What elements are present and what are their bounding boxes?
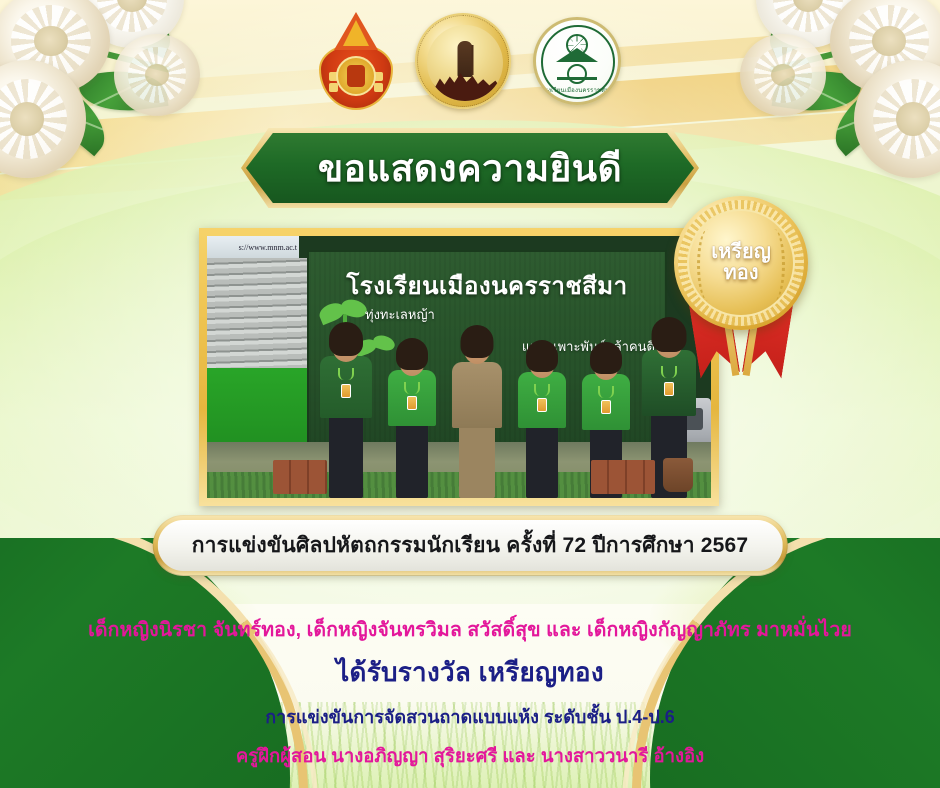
person-hair [461,325,494,358]
laurel-left-icon [697,229,719,301]
person-hair [329,322,363,356]
person-id-badge [407,396,417,410]
moe-body [319,44,393,110]
person-legs [526,424,558,498]
moe-ornament [329,83,338,92]
medal-inner-face [427,25,503,101]
backdrop-school-name: โรงเรียนเมืองนครราชสีมา [309,266,665,305]
person-lanyard [534,384,550,396]
person-id-badge [537,398,547,412]
photo-url-banner: s://www.mnm.ac.t [207,236,299,258]
photo-ceramic-pot [663,458,693,492]
award-result-line: ได้รับรางวัล เหรียญทอง [0,652,940,693]
headline-text: ขอแสดงความยินดี [318,139,622,198]
gold-medal-badge: เหรียญ ทอง [668,196,814,378]
person-lanyard [598,386,614,398]
pavilion-icon [557,54,597,80]
laurel-right-icon [763,229,785,301]
logo-row: โรงเรียนเมืองนครราชสีมา [0,12,940,110]
event-name-line: การแข่งขันการจัดสวนถาดแบบแห้ง ระดับชั้น … [0,702,940,731]
ministry-of-education-icon [319,12,393,110]
teachers-line: ครูฝึกผู้สอน นางอภิญญา สุริยะศรี และ นาง… [0,742,940,771]
headline-banner: ขอแสดงความยินดี [246,133,694,203]
photo-brick-planter-left [273,460,327,494]
school-seal-icon: โรงเรียนเมืองนครราชสีมา [533,17,621,105]
moe-center-ring [336,56,376,96]
caption-pill: การแข่งขันศิลปหัตถกรรมนักเรียน ครั้งที่ … [154,516,787,575]
medal-label-line2: ทอง [724,263,759,284]
award-details: เด็กหญิงนิรชา จันทร์ทอง, เด็กหญิงจันทรวิ… [0,614,940,771]
caption-text: การแข่งขันศิลปหัตถกรรมนักเรียน ครั้งที่ … [192,534,749,557]
person-hair [590,342,622,374]
headline-green-plate: ขอแสดงความยินดี [246,133,694,203]
competition-caption: การแข่งขันศิลปหัตถกรรมนักเรียน ครั้งที่ … [154,516,787,575]
person-student-2 [513,350,571,498]
moe-ornament [374,83,383,92]
school-seal-label: โรงเรียนเมืองนครราชสีมา [536,85,618,95]
medal-label-line1: เหรียญ [711,242,771,263]
person-hair [396,338,428,370]
person-id-badge [341,384,351,398]
group-photo: s://www.mnm.ac.t โรงเรียนเมืองนครราชสีมา… [207,236,711,498]
competition-medal-icon [415,13,511,109]
photo-shutter-wall [207,258,307,368]
person-teacher-2 [447,330,507,498]
monument-statue-icon [458,41,473,77]
person-legs [396,422,428,498]
person-id-badge [664,382,674,396]
medal-disc: เหรียญ ทอง [674,196,808,330]
person-legs [459,424,495,498]
person-hair [526,340,558,372]
photo-brick-planter-right [591,460,655,494]
moe-flame-inner [343,20,369,46]
person-legs [329,414,363,498]
person-lanyard [338,368,354,380]
student-names-line: เด็กหญิงนิรชา จันทร์ทอง, เด็กหญิงจันทรวิ… [0,614,940,645]
person-student-1 [383,348,441,498]
group-photo-frame: s://www.mnm.ac.t โรงเรียนเมืองนครราชสีมา… [199,228,719,506]
person-id-badge [601,400,611,414]
medal-face: เหรียญ ทอง [687,209,795,317]
backdrop-slogan-1: ทุ่งทะเลหญ้า [365,304,435,325]
person-top [452,362,502,428]
person-lanyard [404,382,420,394]
